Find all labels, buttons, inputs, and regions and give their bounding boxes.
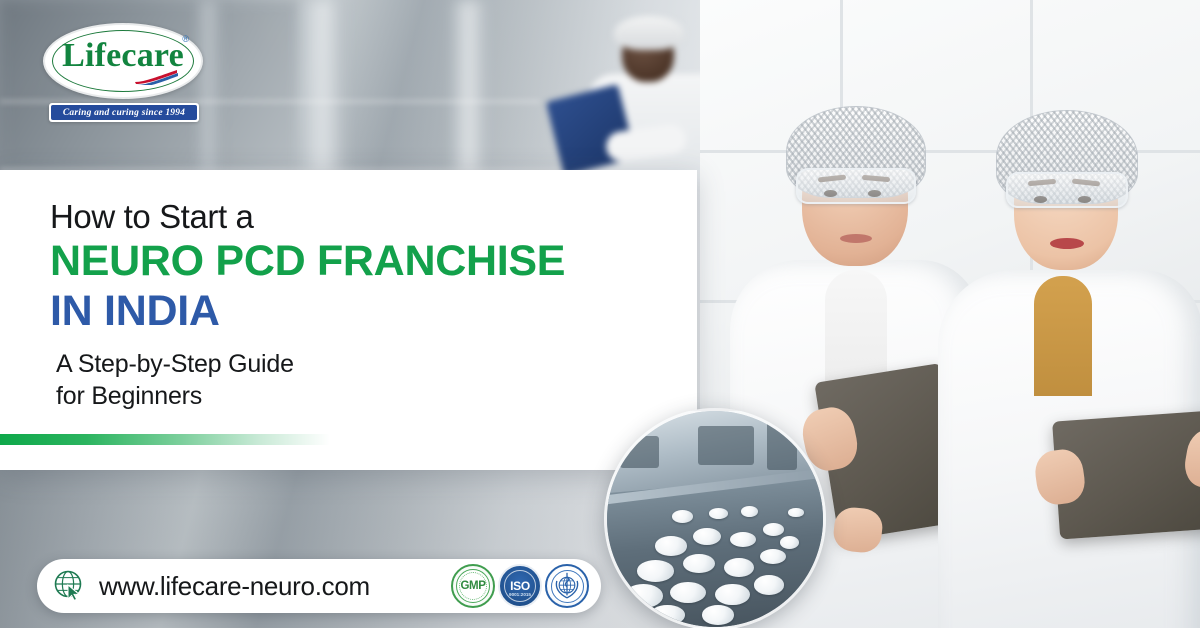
iso-badge-version: 9001:2015 xyxy=(500,592,540,597)
green-accent-bar xyxy=(0,434,330,445)
pipe-center xyxy=(300,0,346,175)
headline-subtitle-line-1: A Step-by-Step Guide xyxy=(50,348,697,380)
who-emblem-icon xyxy=(550,569,584,603)
headline-panel: How to Start a NEURO PCD FRANCHISE IN IN… xyxy=(0,170,697,470)
who-emblem-badge xyxy=(545,564,589,608)
safety-goggles-left xyxy=(796,168,916,204)
headline-kicker: How to Start a xyxy=(50,200,697,235)
globe-cursor-icon xyxy=(53,569,87,603)
logo-tagline-banner: Caring and curing since 1994 xyxy=(49,103,199,122)
gmp-certified-badge: GMP xyxy=(451,564,495,608)
headline-primary: NEURO PCD FRANCHISE xyxy=(50,237,697,287)
headline-subtitle-line-2: for Beginners xyxy=(50,380,697,412)
inset-machine-block-2 xyxy=(767,419,797,470)
lips-left xyxy=(840,234,872,243)
scientist-right xyxy=(938,120,1200,628)
certification-badges: GMP ISO 9001:2015 xyxy=(451,564,589,608)
pipe-center-right xyxy=(455,0,485,175)
lips-right xyxy=(1050,238,1084,249)
worker-hairnet-icon xyxy=(614,16,684,50)
iso-certified-badge: ISO 9001:2015 xyxy=(498,564,542,608)
logo-tagline-text: Caring and curing since 1994 xyxy=(51,105,197,120)
website-url-bar[interactable]: www.lifecare-neuro.com GMP ISO 9001:2015 xyxy=(37,559,601,613)
pills-conveyor-inset xyxy=(604,408,826,628)
inset-machine-block-1 xyxy=(698,426,754,465)
safety-goggles-right xyxy=(1006,172,1128,208)
gmp-badge-label: GMP xyxy=(461,580,486,592)
website-url-text: www.lifecare-neuro.com xyxy=(99,571,370,602)
headline-location: IN INDIA xyxy=(50,287,697,335)
iso-badge-label: ISO xyxy=(510,579,530,593)
logo-lifecare[interactable]: Lifecare ® Caring and curing since 1994 xyxy=(43,23,203,121)
logo-swoosh-icon xyxy=(133,69,179,85)
logo-oval: Lifecare ® xyxy=(43,23,203,99)
inner-shirt-right xyxy=(1034,276,1092,396)
registered-mark-icon: ® xyxy=(182,34,189,44)
inset-machine-block-3 xyxy=(620,436,659,469)
